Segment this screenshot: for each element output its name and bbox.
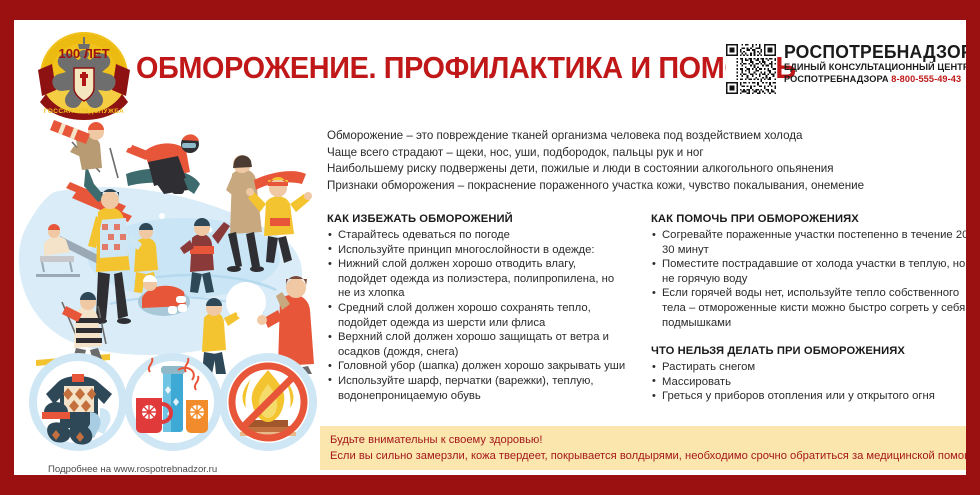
section-heading: КАК ИЗБЕЖАТЬ ОБМОРОЖЕНИЙ: [327, 212, 627, 227]
figure-snowboarder: [122, 134, 200, 194]
list-item: Головной убор (шапка) должен хорошо закр…: [327, 359, 627, 374]
brand-subtitle-line2: РОСПОТРЕБНАДЗОРА 8-800-555-49-43: [784, 74, 966, 86]
warning-line-1: Будьте внимательны к своему здоровью!: [330, 433, 956, 449]
column-prevention: КАК ИЗБЕЖАТЬ ОБМОРОЖЕНИЙ Старайтесь одев…: [327, 212, 627, 403]
section-forbidden-actions: ЧТО НЕЛЬЗЯ ДЕЛАТЬ ПРИ ОБМОРОЖЕНИЯХ Расти…: [651, 344, 966, 404]
list-item: Старайтесь одеваться по погоде: [327, 228, 627, 243]
forbidden-bullet-list: Растирать снегом Массировать Греться у п…: [651, 360, 966, 404]
intro-line: Признаки обморожения – покраснение пораж…: [327, 178, 966, 195]
intro-paragraph: Обморожение – это повреждение тканей орг…: [327, 128, 966, 194]
section-avoid-frostbite: КАК ИЗБЕЖАТЬ ОБМОРОЖЕНИЙ Старайтесь одев…: [327, 212, 627, 403]
warning-line-2: Если вы сильно замерзли, кожа твердеет, …: [330, 449, 956, 465]
section-heading: КАК ПОМОЧЬ ПРИ ОБМОРОЖЕНИЯХ: [651, 212, 966, 227]
list-item: Греться у приборов отопления или у откры…: [651, 389, 966, 404]
column-help: КАК ПОМОЧЬ ПРИ ОБМОРОЖЕНИЯХ Согревайте п…: [651, 212, 966, 404]
section-heading: ЧТО НЕЛЬЗЯ ДЕЛАТЬ ПРИ ОБМОРОЖЕНИЯХ: [651, 344, 966, 359]
list-item: Используйте принцип многослойности в оде…: [327, 243, 627, 258]
section-how-to-help: КАК ПОМОЧЬ ПРИ ОБМОРОЖЕНИЯХ Согревайте п…: [651, 212, 966, 330]
brand-subtitle-line1: ЕДИНЫЙ КОНСУЛЬТАЦИОННЫЙ ЦЕНТР: [784, 62, 966, 74]
brand-phone-number[interactable]: 8-800-555-49-43: [891, 74, 961, 84]
intro-line: Чаще всего страдают – щеки, нос, уши, по…: [327, 145, 966, 162]
list-item: Поместите пострадавшие от холода участки…: [651, 257, 966, 286]
list-item: Верхний слой должен хорошо защищать от в…: [327, 330, 627, 359]
page-title: ОБМОРОЖЕНИЕ. ПРОФИЛАКТИКА И ПОМОЩЬ: [136, 50, 675, 86]
emblem-anniversary-text: 100 ЛЕТ: [58, 46, 109, 61]
brand-name: РОСПОТРЕБНАДЗОР: [784, 42, 966, 62]
list-item: Массировать: [651, 375, 966, 390]
avoid-bullet-list: Старайтесь одеваться по погоде Используй…: [327, 228, 627, 403]
poster-root: 100 ЛЕТ ГОССАНЭПИДСЛУЖБА ОБМОРОЖЕНИЕ. ПР…: [0, 0, 980, 495]
brand-subtitle-line2-text: РОСПОТРЕБНАДЗОРА: [784, 74, 889, 84]
qr-code-icon[interactable]: [726, 44, 776, 94]
list-item: Средний слой должен хорошо сохранять теп…: [327, 301, 627, 330]
hot-drinks-icon: [124, 353, 222, 451]
winter-activities-illustration: [14, 106, 326, 374]
list-item: Согревайте пораженные участки постепенно…: [651, 228, 966, 257]
warm-clothing-icon: [29, 353, 127, 451]
rospotrebnadzor-brand-block: РОСПОТРЕБНАДЗОР ЕДИНЫЙ КОНСУЛЬТАЦИОННЫЙ …: [726, 42, 966, 94]
intro-line: Обморожение – это повреждение тканей орг…: [327, 128, 966, 145]
intro-line: Наибольшему риску подвержены дети, пожил…: [327, 161, 966, 178]
list-item: Нижний слой должен хорошо отводить влагу…: [327, 257, 627, 301]
list-item: Растирать снегом: [651, 360, 966, 375]
list-item: Используйте шарф, перчатки (варежки), те…: [327, 374, 627, 403]
health-warning-box: Будьте внимательны к своему здоровью! Ес…: [320, 426, 966, 470]
advice-icon-row: [28, 350, 318, 455]
poster-page: 100 ЛЕТ ГОССАНЭПИДСЛУЖБА ОБМОРОЖЕНИЕ. ПР…: [14, 20, 966, 475]
footer-website-note[interactable]: Подробнее на www.rospotrebnadzor.ru: [48, 464, 217, 475]
help-bullet-list: Согревайте пораженные участки постепенно…: [651, 228, 966, 330]
list-item: Если горячей воды нет, используйте тепло…: [651, 286, 966, 330]
no-open-fire-icon: [219, 353, 317, 451]
